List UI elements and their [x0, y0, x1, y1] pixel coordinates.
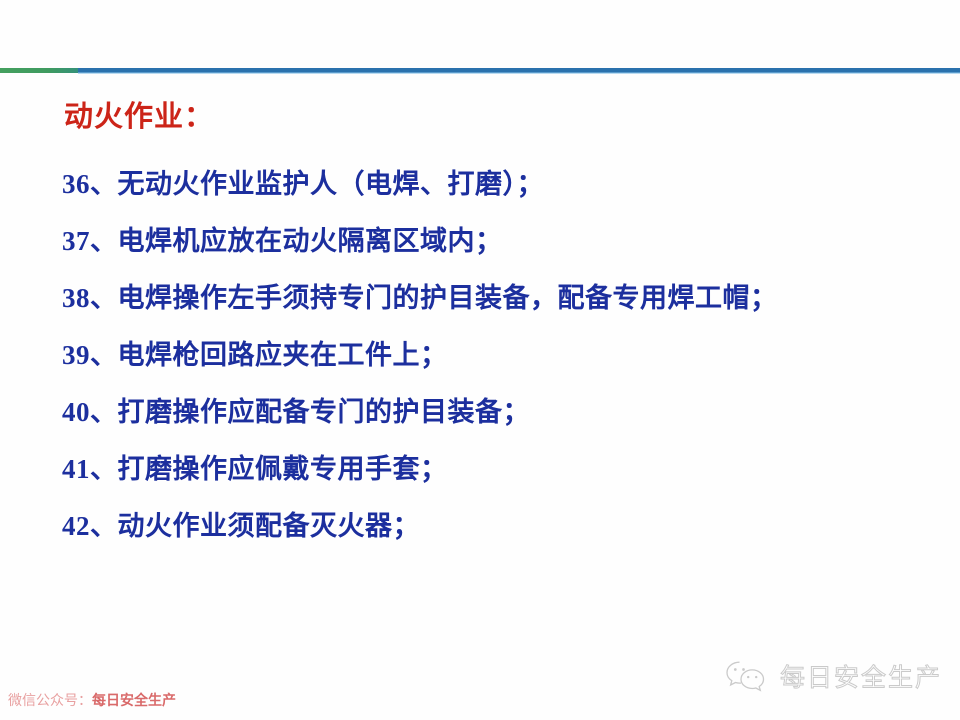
slide-body-list: 36、无动火作业监护人（电焊、打磨）； 37、电焊机应放在动火隔离区域内； 38… — [62, 156, 942, 555]
wechat-icon — [724, 659, 768, 693]
presentation-slide: 动火作业： 36、无动火作业监护人（电焊、打磨）； 37、电焊机应放在动火隔离区… — [0, 0, 960, 720]
caption-account-name: 每日安全生产 — [92, 692, 176, 708]
slide-title: 动火作业： — [64, 100, 214, 135]
list-item: 39、电焊枪回路应夹在工件上； — [62, 327, 942, 384]
list-item: 42、动火作业须配备灭火器； — [62, 498, 942, 555]
rule-green-segment — [0, 68, 80, 73]
list-item: 41、打磨操作应佩戴专用手套； — [62, 441, 942, 498]
watermark-text: 每日安全生产 — [780, 658, 942, 694]
list-item: 36、无动火作业监护人（电焊、打磨）； — [62, 156, 942, 213]
rule-highlight-segment — [78, 72, 960, 74]
list-item: 40、打磨操作应配备专门的护目装备； — [62, 384, 942, 441]
list-item: 38、电焊操作左手须持专门的护目装备，配备专用焊工帽； — [62, 270, 942, 327]
list-item: 37、电焊机应放在动火隔离区域内； — [62, 213, 942, 270]
caption-label: 微信公众号： — [8, 692, 92, 708]
wechat-account-caption: 微信公众号：每日安全生产 — [8, 690, 176, 710]
watermark: 每日安全生产 — [724, 658, 942, 694]
header-divider-rule — [0, 68, 960, 73]
